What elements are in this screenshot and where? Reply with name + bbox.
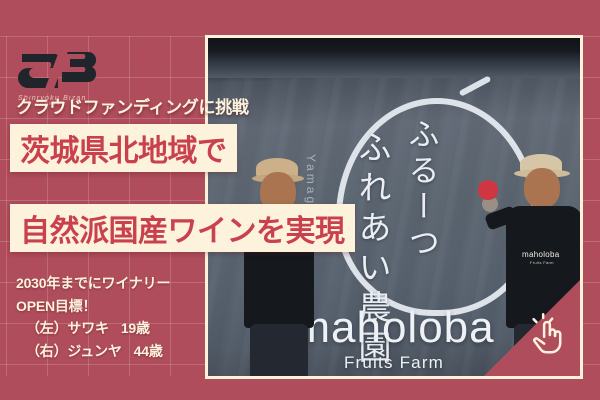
tshirt-logo-subtext: Fruits Farm	[530, 260, 554, 265]
left-person-label: （左）	[26, 320, 67, 336]
right-person-apple	[478, 180, 498, 200]
right-person-age: 44歳	[134, 343, 163, 359]
banner-top-fold	[208, 60, 580, 78]
banner-top-shadow	[208, 38, 580, 62]
headline-line1: 茨城県北地域で	[10, 124, 237, 172]
right-person-head	[524, 168, 560, 208]
left-person-name: サワキ	[67, 320, 108, 336]
right-person-label: （右）	[26, 343, 67, 359]
person-left	[216, 158, 336, 376]
detail-line-3: （左）サワキ19歳	[16, 317, 170, 340]
right-person-name: ジュンヤ	[67, 343, 121, 359]
detail-text-block: 2030年までにワイナリー OPEN目標！ （左）サワキ19歳 （右）ジュンヤ4…	[16, 272, 170, 363]
left-person-legs	[250, 324, 308, 379]
detail-line-2: OPEN目標！	[16, 295, 170, 318]
headline-kicker: クラウドファンディングに挑戦	[16, 93, 249, 118]
detail-line-4: （右）ジュンヤ44歳	[16, 340, 170, 363]
tshirt-logo-text: maholoba	[522, 250, 560, 259]
headline-line2: 自然派国産ワインを実現	[10, 204, 355, 252]
banner-small-jp-text: ふるーつ	[404, 118, 437, 262]
click-hand-icon[interactable]	[524, 312, 570, 358]
promo-banner: ふるーつ ふれあい農園 Yamagata maholoba Fruits Far…	[0, 0, 600, 400]
left-person-age: 19歳	[121, 320, 150, 336]
detail-line-1: 2030年までにワイナリー	[16, 272, 170, 295]
company-logo-icon	[16, 44, 102, 96]
